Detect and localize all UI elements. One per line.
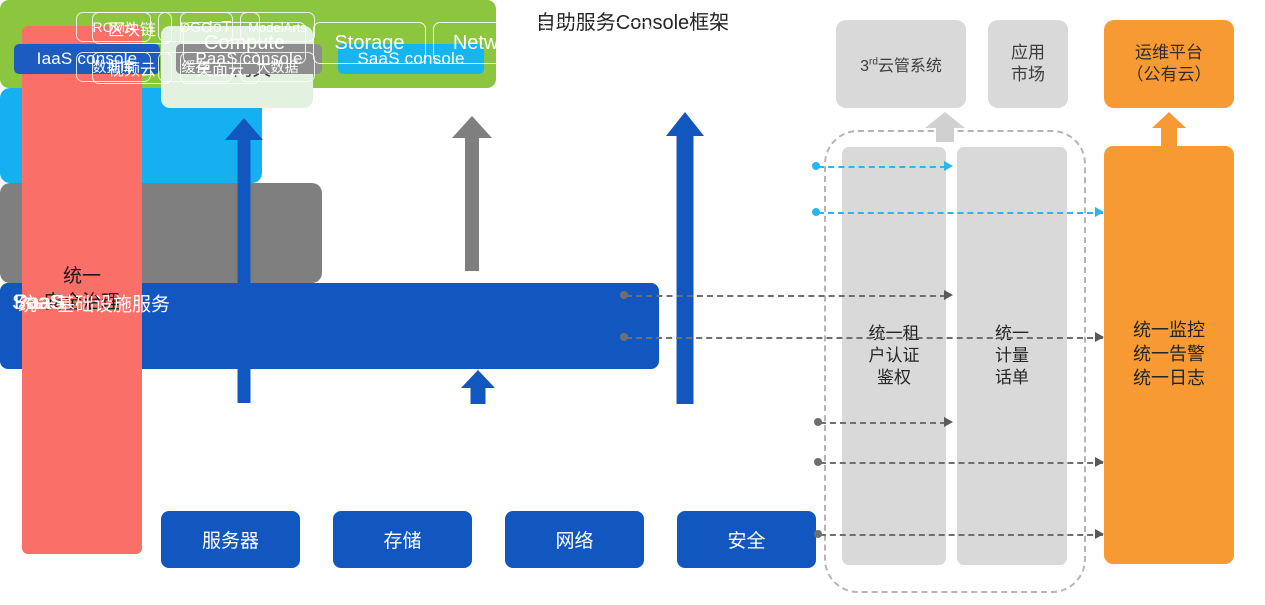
diagram-title: 云平台总体架构图 — [0, 369, 1, 370]
third-party-prefix: 3 — [860, 58, 869, 75]
paas-item-database-label: 数据库 — [93, 57, 135, 77]
connector-arrowhead-paas-ops-icon — [1095, 332, 1104, 342]
connector-arrowhead-paas-auth-icon — [944, 290, 953, 300]
connector-arrowhead-hardware-ops-icon — [1095, 529, 1104, 539]
hardware-item-network[interactable]: 网络 — [505, 511, 644, 568]
connector-paas-to-auth — [626, 295, 946, 297]
app-market-line2: 市场 — [1011, 64, 1045, 86]
unified-billing-line1: 统一 — [995, 323, 1029, 345]
third-party-cloud-mgmt-box[interactable]: 3rd云管系统 — [836, 20, 966, 108]
ops-platform-line1: 运维平台 — [1127, 42, 1212, 64]
unified-billing-column[interactable]: 统一 计量 话单 — [957, 147, 1067, 565]
connector-infra-to-auth — [820, 422, 946, 424]
unified-tenant-auth-column[interactable]: 统一租 户认证 鉴权 — [842, 147, 946, 565]
unified-tenant-auth-line2: 户认证 — [869, 345, 920, 367]
infrastructure-item-network-label: Network — [453, 32, 526, 55]
unified-billing-line3: 话单 — [995, 367, 1029, 389]
hardware-item-server-label: 服务器 — [202, 526, 259, 553]
infrastructure-item-cce-label: CCE — [580, 32, 622, 55]
unified-monitoring-line1: 统一监控 — [1133, 319, 1205, 343]
arrow-up-infra-to-paas-icon — [461, 370, 495, 404]
app-market-label: 应用 市场 — [1011, 42, 1045, 86]
hardware-item-security[interactable]: 安全 — [677, 511, 816, 568]
unified-monitoring-label: 统一监控 统一告警 统一日志 — [1133, 319, 1205, 390]
ops-platform-box[interactable]: 运维平台 （公有云） — [1104, 20, 1234, 108]
infrastructure-item-storage[interactable]: Storage — [313, 22, 426, 64]
arrow-up-paas-to-console-icon — [452, 116, 492, 271]
unified-tenant-auth-line1: 统一租 — [869, 323, 920, 345]
hardware-item-server[interactable]: 服务器 — [161, 511, 300, 568]
infrastructure-item-network[interactable]: Network — [433, 22, 546, 64]
hardware-item-storage[interactable]: 存储 — [333, 511, 472, 568]
infrastructure-item-compute-label: Compute — [204, 32, 285, 55]
third-party-cloud-mgmt-label: 3rd云管系统 — [860, 52, 942, 76]
arrow-up-shared-to-third-party-icon — [925, 112, 965, 140]
connector-arrowhead-infra-auth-icon — [944, 417, 953, 427]
arrow-up-shared-to-ops-platform-icon — [1152, 112, 1186, 146]
unified-billing-line2: 计量 — [995, 345, 1029, 367]
arrow-up-infra-to-api-gateway-icon — [225, 118, 263, 403]
app-market-box[interactable]: 应用 市场 — [988, 20, 1068, 108]
hardware-item-network-label: 网络 — [555, 526, 593, 553]
connector-infra-to-ops — [820, 462, 1103, 464]
app-market-line1: 应用 — [1011, 42, 1045, 64]
unified-tenant-auth-label: 统一租 户认证 鉴权 — [869, 323, 920, 388]
arrow-up-infra-to-saas-icon — [666, 112, 704, 404]
paas-item-roma[interactable]: ROMA — [76, 12, 151, 42]
ops-platform-label: 运维平台 （公有云） — [1127, 42, 1212, 86]
ops-platform-line2: （公有云） — [1127, 64, 1212, 86]
infrastructure-layer-label: 统一基础设施服务 — [18, 289, 170, 316]
hardware-item-security-label: 安全 — [727, 526, 765, 553]
connector-saas-to-ops — [818, 212, 1103, 214]
infrastructure-item-cce[interactable]: CCE — [552, 22, 651, 64]
infrastructure-item-storage-label: Storage — [334, 32, 404, 55]
connector-saas-to-auth — [818, 166, 946, 168]
unified-monitoring-line3: 统一日志 — [1133, 367, 1205, 391]
paas-item-database[interactable]: 数据库 — [76, 52, 151, 82]
connector-hardware-to-ops — [820, 534, 1103, 536]
third-party-superscript: rd — [869, 57, 878, 68]
connector-paas-to-ops — [626, 337, 1103, 339]
security-governance-line1: 统一 — [44, 264, 120, 290]
connector-arrowhead-saas-auth-icon — [944, 161, 953, 171]
paas-item-roma-label: ROMA — [93, 19, 135, 35]
unified-monitoring-bar[interactable]: 统一监控 统一告警 统一日志 — [1104, 146, 1234, 564]
third-party-suffix: 云管系统 — [878, 58, 942, 75]
infrastructure-item-compute[interactable]: Compute — [183, 22, 306, 64]
connector-arrowhead-saas-ops-icon — [1095, 207, 1104, 217]
hardware-item-storage-label: 存储 — [383, 526, 421, 553]
unified-tenant-auth-line3: 鉴权 — [869, 367, 920, 389]
architecture-diagram: 统一 安全治理 API网关 自助服务Console框架 IaaS console… — [0, 0, 1265, 605]
unified-monitoring-line2: 统一告警 — [1133, 343, 1205, 367]
unified-billing-label: 统一 计量 话单 — [995, 323, 1029, 388]
connector-arrowhead-infra-ops-icon — [1095, 457, 1104, 467]
